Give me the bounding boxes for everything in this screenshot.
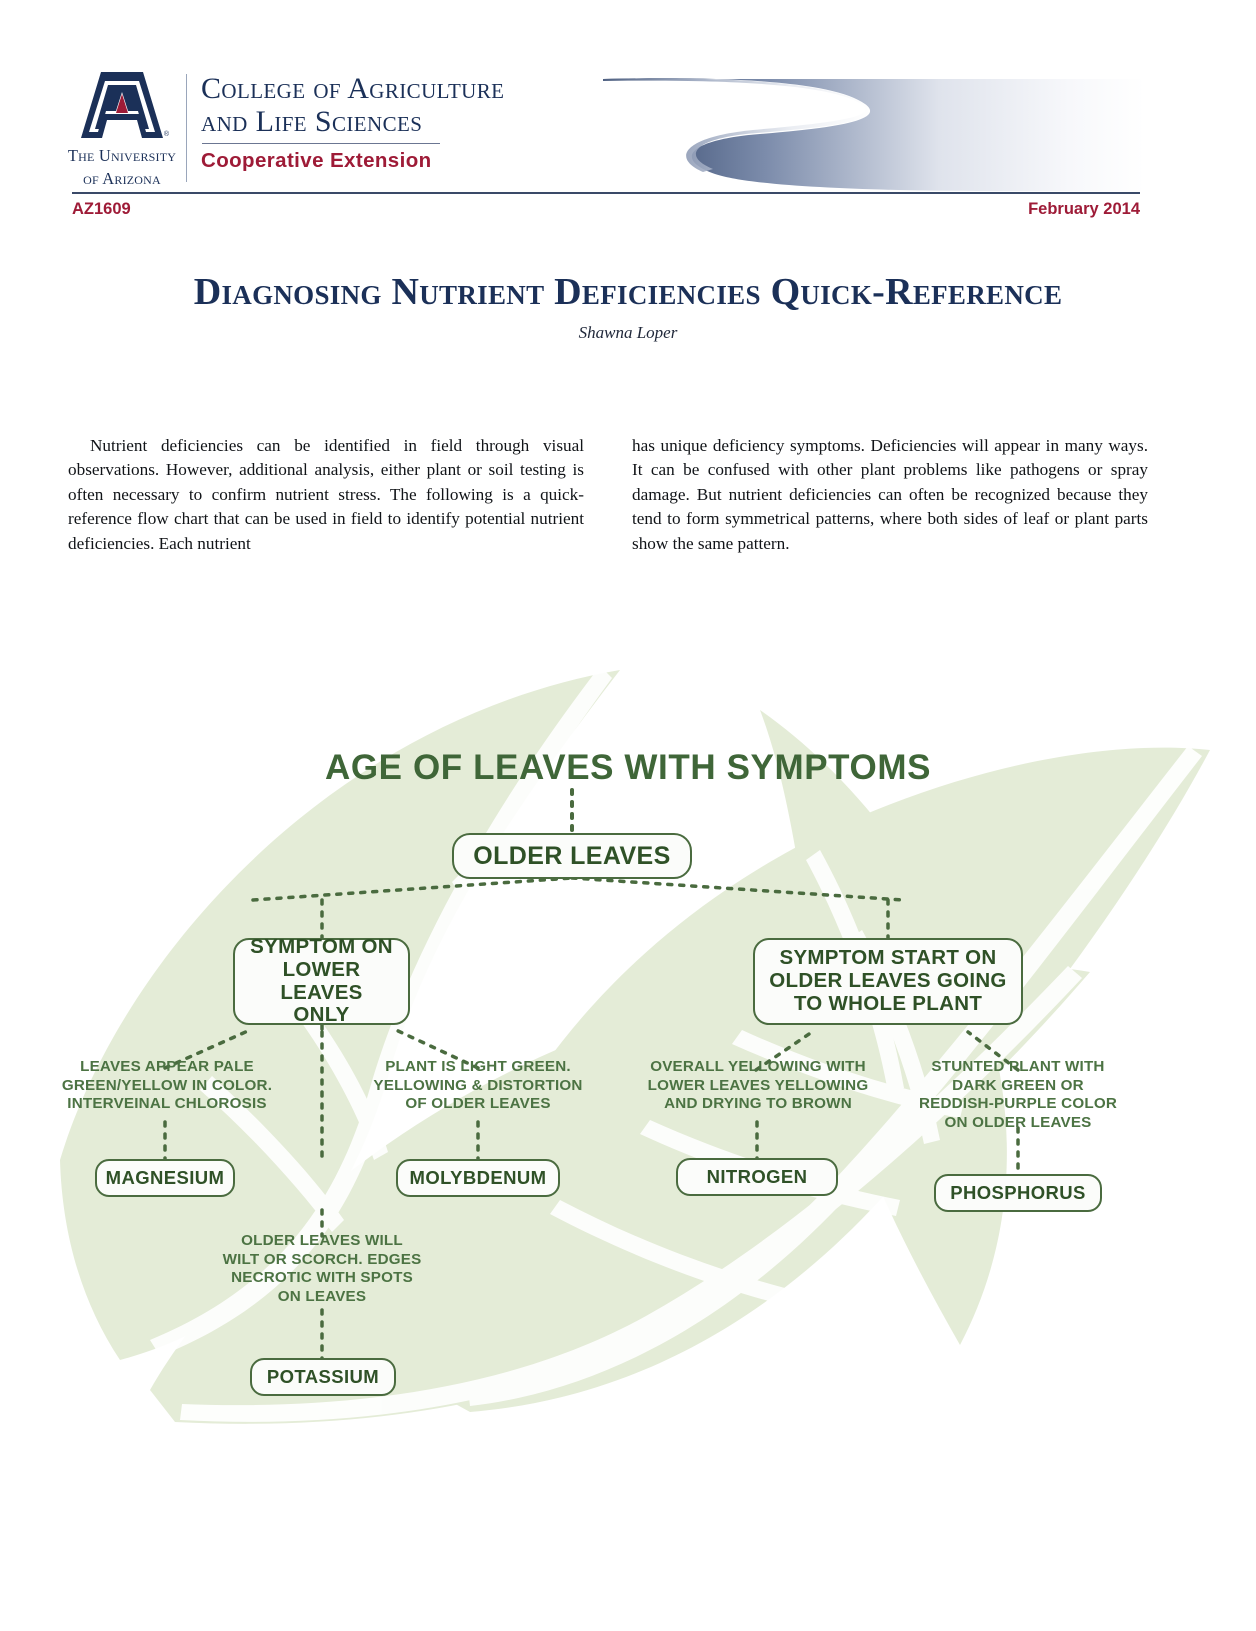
node-symptom-on-lower-leaves-only[interactable]: SYMPTOM ON LOWER LEAVES ONLY [233,938,410,1025]
college-wordmark: College of Agriculture and Life Sciences… [201,70,504,173]
symptom-text-potassium: OLDER LEAVES WILL WILT OR SCORCH. EDGES … [196,1232,448,1306]
symptom-line-2: DARK GREEN OR [902,1077,1134,1096]
cooperative-extension-label: Cooperative Extension [201,149,504,173]
intro-column-left: Nutrient deficiencies can be identified … [68,434,584,556]
branch-label-line-1: SYMPTOM ON [245,936,398,959]
university-name-line1: The University [68,146,176,165]
branch-label-line-1: SYMPTOM START ON [769,947,1006,970]
branch-label-line-3: TO WHOLE PLANT [769,993,1006,1016]
symptom-line-3: REDDISH-PURPLE COLOR [902,1095,1134,1114]
publication-id: AZ1609 [72,200,131,219]
branch-label-line-2: LOWER LEAVES [245,959,398,1005]
node-result-potassium[interactable]: POTASSIUM [250,1358,396,1396]
symptom-line-1: LEAVES APPEAR PALE [40,1058,294,1077]
document-header: ® The University of Arizona College of A… [0,0,1256,230]
intro-paragraph-right: has unique deficiency symptoms. Deficien… [632,434,1148,556]
symptom-text-phosphorus: STUNTED PLANT WITH DARK GREEN OR REDDISH… [902,1058,1134,1132]
symptom-line-2: LOWER LEAVES YELLOWING [632,1077,884,1096]
logo-divider [186,74,187,182]
symptom-line-3: NECROTIC WITH SPOTS [196,1269,448,1288]
intro-text-columns: Nutrient deficiencies can be identified … [68,434,1148,556]
flowchart-connectors [0,600,1256,1440]
university-logo: ® The University of Arizona College of A… [72,70,504,188]
node-symptom-start-on-older-leaves-going-to-whole-plant[interactable]: SYMPTOM START ON OLDER LEAVES GOING TO W… [753,938,1023,1025]
symptom-line-2: WILT OR SCORCH. EDGES [196,1251,448,1270]
college-rule [202,143,440,144]
symptom-line-3: AND DRYING TO BROWN [632,1095,884,1114]
block-a-icon: ® [79,70,165,142]
college-name-line2: and Life Sciences [201,105,504,138]
node-older-leaves[interactable]: OLDER LEAVES [452,833,692,879]
header-horizontal-rule [72,192,1140,194]
symptom-line-1: OLDER LEAVES WILL [196,1232,448,1251]
node-result-nitrogen[interactable]: NITROGEN [676,1158,838,1196]
symptom-line-4: ON OLDER LEAVES [902,1114,1134,1133]
symptom-line-3: OF OLDER LEAVES [352,1095,604,1114]
page-title: Diagnosing Nutrient Deficiencies Quick-R… [0,270,1256,314]
symptom-text-molybdenum: PLANT IS LIGHT GREEN. YELLOWING & DISTOR… [352,1058,604,1114]
symptom-text-nitrogen: OVERALL YELLOWING WITH LOWER LEAVES YELL… [632,1058,884,1114]
symptom-line-2: YELLOWING & DISTORTION [352,1077,604,1096]
document-page: ® The University of Arizona College of A… [0,0,1256,1631]
symptom-line-4: ON LEAVES [196,1288,448,1307]
author-name: Shawna Loper [0,323,1256,343]
branch-label-line-3: ONLY [245,1004,398,1027]
symptom-text-magnesium: LEAVES APPEAR PALE GREEN/YELLOW IN COLOR… [40,1058,294,1114]
publication-date: February 2014 [1028,200,1140,219]
symptom-line-1: PLANT IS LIGHT GREEN. [352,1058,604,1077]
nutrient-deficiency-flowchart: AGE OF LEAVES WITH SYMPTOMS OLDER LEAVES… [0,600,1256,1440]
college-name-line1: College of Agriculture [201,72,504,105]
symptom-line-1: STUNTED PLANT WITH [902,1058,1134,1077]
node-result-magnesium[interactable]: MAGNESIUM [95,1159,235,1197]
intro-column-right: has unique deficiency symptoms. Deficien… [632,434,1148,556]
branch-label-line-2: OLDER LEAVES GOING [769,970,1006,993]
node-result-phosphorus[interactable]: PHOSPHORUS [934,1174,1102,1212]
university-name-line2: of Arizona [83,169,161,188]
symptom-line-1: OVERALL YELLOWING WITH [632,1058,884,1077]
symptom-line-2: GREEN/YELLOW IN COLOR. [40,1077,294,1096]
registered-trademark-icon: ® [164,131,169,138]
flowchart-title: AGE OF LEAVES WITH SYMPTOMS [0,748,1256,788]
header-swoosh-graphic [585,68,1145,192]
ua-block-a-mark: ® The University of Arizona [72,70,172,188]
node-result-molybdenum[interactable]: MOLYBDENUM [396,1159,560,1197]
intro-paragraph-left: Nutrient deficiencies can be identified … [68,434,584,556]
symptom-line-3: INTERVEINAL CHLOROSIS [40,1095,294,1114]
